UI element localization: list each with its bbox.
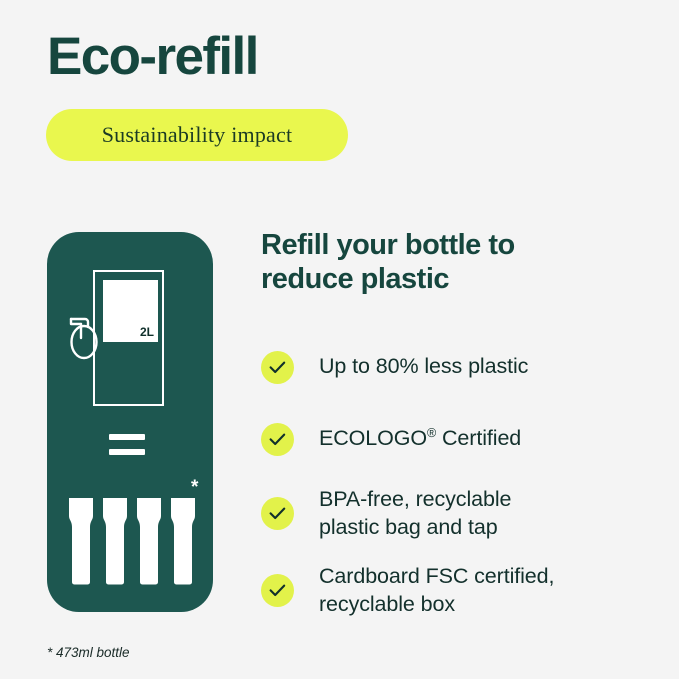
list-item: BPA-free, recyclable plastic bag and tap [261, 486, 661, 541]
bottle-icon [101, 496, 129, 586]
carton-label: 2L [103, 280, 158, 342]
bottle-icon [169, 496, 197, 586]
feature-label-main: ECOLOGO [319, 426, 427, 450]
feature-label: ECOLOGO® Certified [319, 425, 521, 453]
sustainability-badge: Sustainability impact [46, 109, 348, 161]
equals-bar-top [109, 434, 145, 440]
check-icon [261, 351, 294, 384]
content-column: Refill your bottle to reduce plastic Up … [261, 229, 661, 297]
sustainability-badge-label: Sustainability impact [102, 122, 293, 148]
illustration-panel: 2L * [47, 232, 213, 612]
feature-label: Up to 80% less plastic [319, 353, 528, 381]
section-heading: Refill your bottle to reduce plastic [261, 229, 661, 297]
registered-trademark-symbol: ® [427, 426, 436, 440]
footnote: * 473ml bottle [47, 645, 130, 660]
feature-label-suffix: Certified [436, 426, 521, 450]
carton-volume-label: 2L [140, 326, 158, 342]
check-icon [261, 574, 294, 607]
bottle-row [67, 496, 197, 586]
list-item: Cardboard FSC certified, recyclable box [261, 563, 661, 618]
bottle-icon [135, 496, 163, 586]
check-icon [261, 423, 294, 456]
tap-icon [61, 312, 105, 360]
equals-sign-icon [109, 434, 145, 455]
infographic-page: Eco-refill Sustainability impact 2L * [0, 0, 679, 679]
page-title: Eco-refill [47, 29, 258, 85]
feature-label: Cardboard FSC certified, recyclable box [319, 563, 554, 618]
bottle-icon [67, 496, 95, 586]
list-item: ECOLOGO® Certified [261, 414, 661, 464]
list-item: Up to 80% less plastic [261, 342, 661, 392]
check-icon [261, 497, 294, 530]
equals-bar-bottom [109, 449, 145, 455]
feature-list: Up to 80% less plastic ECOLOGO® Certifie… [261, 342, 661, 640]
feature-label: BPA-free, recyclable plastic bag and tap [319, 486, 511, 541]
asterisk-marker: * [191, 478, 198, 497]
